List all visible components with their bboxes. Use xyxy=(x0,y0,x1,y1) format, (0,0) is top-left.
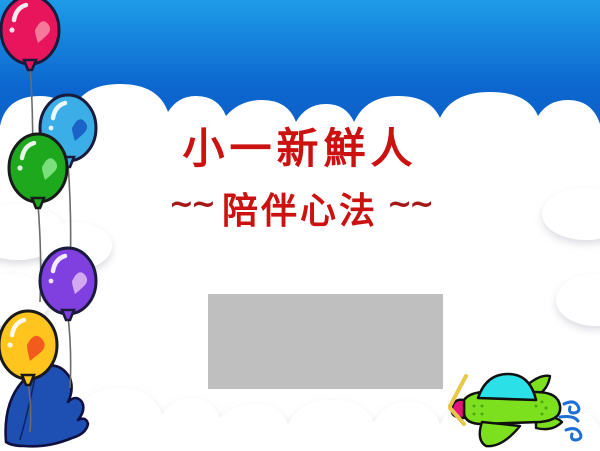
cloud-bottom-overlay xyxy=(0,426,600,451)
airplane-trail xyxy=(560,402,581,440)
airplane-wing xyxy=(480,422,520,446)
cloud-bottom-band xyxy=(0,388,600,451)
title-block: 小一新鮮人 ~~ 陪伴心法 ~~ xyxy=(0,126,600,234)
umbrella-pink xyxy=(30,401,78,437)
airplane-fuselage xyxy=(464,392,560,424)
content-placeholder[interactable] xyxy=(208,294,443,389)
umbrella-group xyxy=(0,330,150,451)
airplane-tail-fin xyxy=(536,417,562,429)
slide-subtitle: 陪伴心法 xyxy=(222,182,378,234)
slide-canvas: 小一新鮮人 ~~ 陪伴心法 ~~ xyxy=(0,0,600,451)
tilde-left-decoration: ~~ xyxy=(169,187,213,222)
balloon-purple xyxy=(40,248,96,320)
balloon-yellow xyxy=(0,311,57,385)
airplane xyxy=(448,362,600,451)
subtitle-row: ~~ 陪伴心法 ~~ xyxy=(0,182,600,234)
slide-title: 小一新鮮人 xyxy=(0,126,600,172)
airplane-rivets xyxy=(473,401,548,416)
airplane-canopy xyxy=(478,374,536,400)
airplane-propeller xyxy=(450,376,466,424)
tilde-right-decoration: ~~ xyxy=(387,187,431,222)
airplane-top-fin xyxy=(526,376,550,396)
umbrella-blue xyxy=(6,366,88,447)
airplane-nose xyxy=(452,400,464,418)
